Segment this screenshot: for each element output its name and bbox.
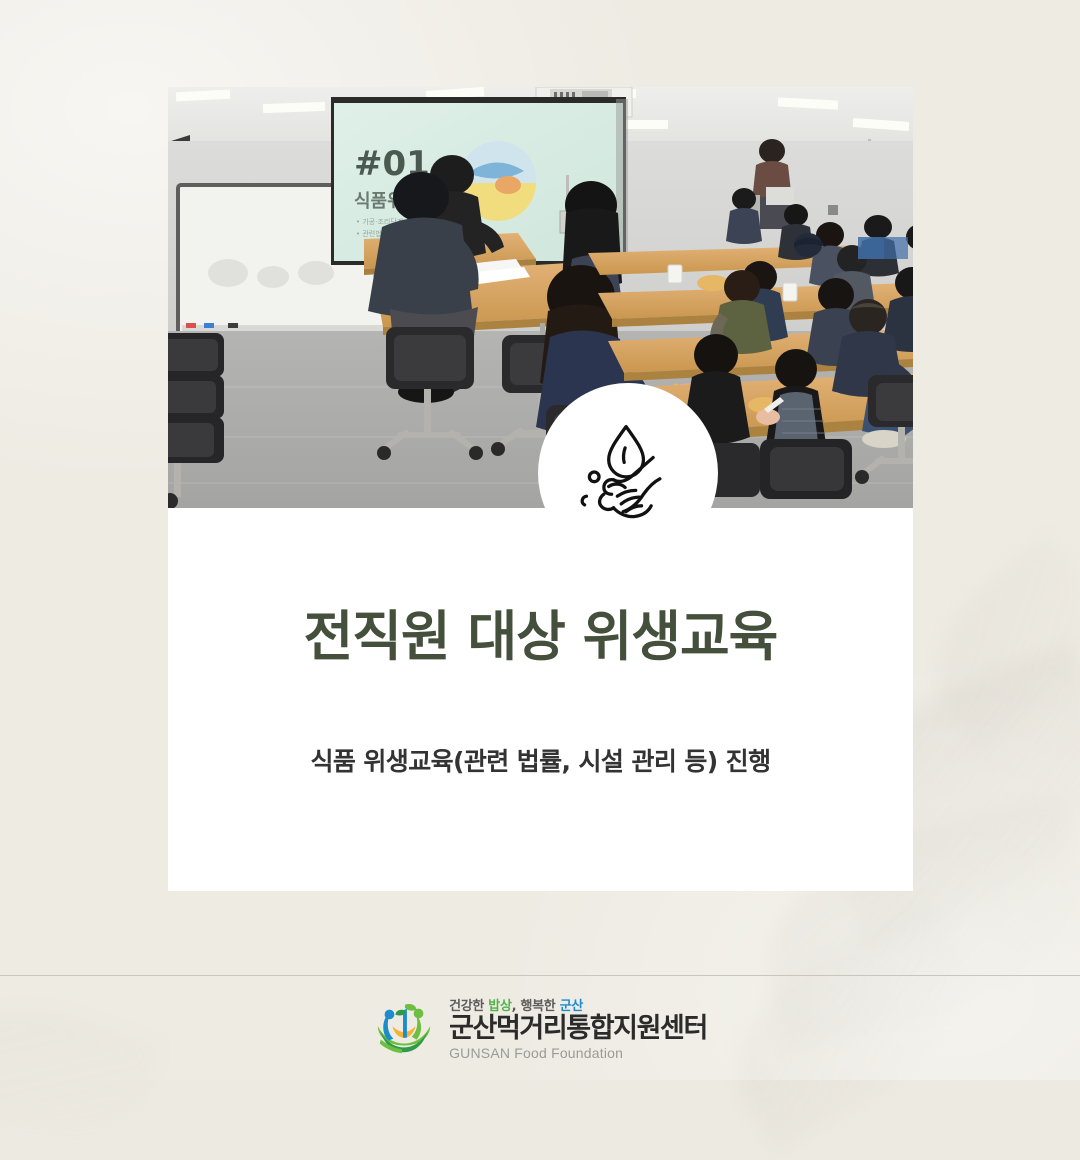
organization-name: 군산먹거리통합지원센터 [449, 1015, 707, 1043]
training-room-photo: #01 식품위생교육 • 가공·조리단계 위생 • 관련법령 및 식품안전관리 … [168, 87, 913, 508]
page-subtitle: 식품 위생교육(관련 법률, 시설 관리 등) 진행 [168, 742, 913, 778]
footer: 건강한 밥상, 행복한 군산 군산먹거리통합지원센터 GUNSAN Food F… [0, 976, 1080, 1080]
tagline-part-4: 군산 [560, 999, 583, 1014]
logo-tagline: 건강한 밥상, 행복한 군산 [449, 995, 707, 1014]
tagline-part-3: , 행복한 [512, 999, 560, 1014]
gunsan-food-foundation-logo-icon [373, 997, 435, 1059]
leaf-shadow-icon [900, 534, 1080, 756]
page-title: 전직원 대상 위생교육 [168, 592, 913, 671]
tagline-part-1: 건강한 [449, 999, 488, 1014]
organization-name-en: GUNSAN Food Foundation [449, 1045, 707, 1061]
tagline-part-2: 밥상 [488, 999, 511, 1014]
hand-washing-icon [570, 417, 686, 529]
hand-washing-badge [538, 383, 718, 563]
logo-text-block: 건강한 밥상, 행복한 군산 군산먹거리통합지원센터 GUNSAN Food F… [449, 995, 707, 1060]
photo-illustration: #01 식품위생교육 • 가공·조리단계 위생 • 관련법령 및 식품안전관리 … [168, 87, 913, 508]
content-card: #01 식품위생교육 • 가공·조리단계 위생 • 관련법령 및 식품안전관리 … [168, 87, 913, 891]
